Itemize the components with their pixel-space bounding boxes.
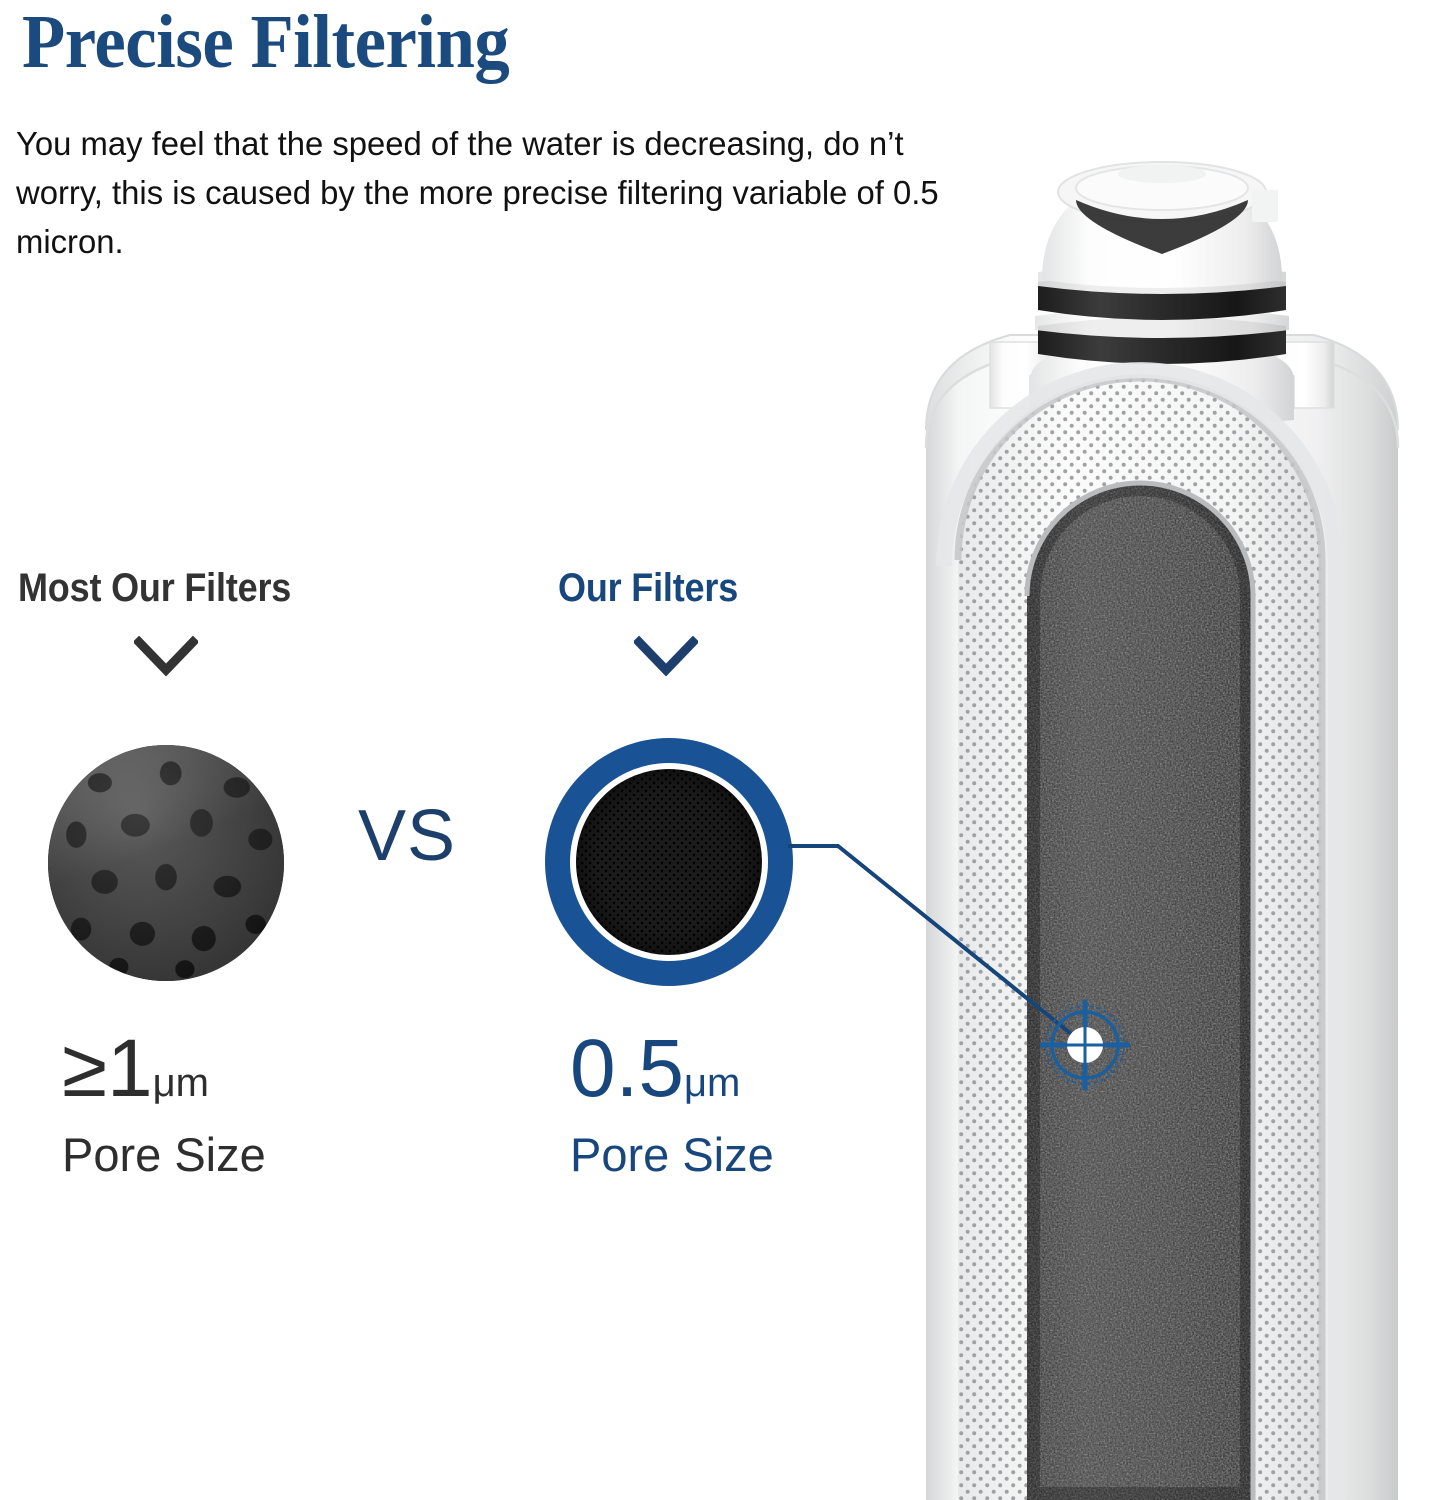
page-description: You may feel that the speed of the water…: [16, 120, 957, 267]
chevron-down-icon: [134, 636, 198, 678]
page-title: Precise Filtering: [22, 0, 509, 88]
left-column-label: Most Our Filters: [18, 566, 291, 611]
chevron-down-icon: [634, 636, 698, 678]
right-pore-unit: μm: [684, 1061, 740, 1105]
right-pore-value-row: 0.5μm: [570, 1026, 774, 1126]
fine-mesh-membrane-icon: [545, 738, 793, 986]
refrigerator-water-filter-cartridge-cutaway: [880, 130, 1444, 1500]
left-pore-value: ≥1: [62, 1023, 153, 1114]
left-pore-caption: Pore Size: [62, 1126, 266, 1184]
infographic-canvas: Precise Filtering You may feel that the …: [0, 0, 1444, 1500]
activated-carbon-core: [1027, 483, 1253, 1500]
right-pore-caption: Pore Size: [570, 1126, 774, 1184]
versus-label: VS: [358, 795, 456, 877]
left-pore-size-readout: ≥1μm Pore Size: [62, 1026, 266, 1184]
right-column-label: Our Filters: [558, 566, 738, 611]
fine-mesh-ring-gap: [570, 763, 768, 961]
coarse-porous-membrane-icon: [48, 745, 284, 981]
coarse-pore-shading: [48, 745, 284, 981]
left-pore-value-row: ≥1μm: [62, 1026, 266, 1126]
right-pore-value: 0.5: [570, 1023, 684, 1114]
fine-mesh-texture: [576, 769, 762, 955]
left-pore-unit: μm: [153, 1061, 209, 1105]
right-pore-size-readout: 0.5μm Pore Size: [570, 1026, 774, 1184]
